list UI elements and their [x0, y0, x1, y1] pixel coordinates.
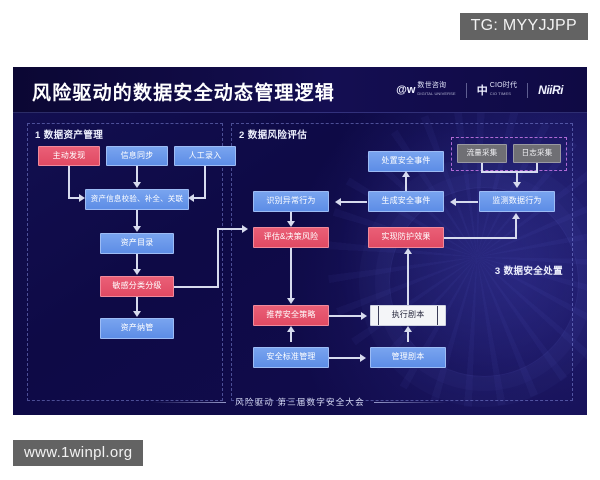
- arrow-head: [361, 312, 367, 320]
- arrow-line: [290, 212, 292, 221]
- node-standard-management[interactable]: 安全标准管理: [253, 347, 329, 368]
- arrow-head: [404, 326, 412, 332]
- logo-h3c-research: NiiRi: [528, 81, 573, 99]
- arrow-head: [188, 194, 194, 202]
- node-generate-incident[interactable]: 生成安全事件: [368, 191, 444, 212]
- arrow-line: [444, 237, 517, 239]
- logo-sub-0: DIGITAL UNIVERSE: [417, 91, 455, 96]
- arrow-line: [290, 248, 292, 298]
- arrow-head: [133, 311, 141, 317]
- page-title: 风险驱动的数据安全动态管理逻辑: [32, 78, 335, 105]
- node-manual-entry[interactable]: 人工录入: [174, 146, 236, 166]
- arrow-line: [407, 332, 409, 342]
- logo-mark-zhong: 中: [477, 82, 488, 98]
- arrow-head: [133, 182, 141, 188]
- node-traffic-collection[interactable]: 流量采集: [457, 144, 507, 163]
- footer-rule-left: [152, 402, 226, 403]
- arrow-line: [329, 357, 362, 359]
- arrow-line: [329, 315, 363, 317]
- arrow-head: [450, 198, 456, 206]
- node-info-sync[interactable]: 信息同步: [106, 146, 168, 166]
- node-asset-governance[interactable]: 资产纳管: [100, 318, 174, 339]
- slide-header-bar: 风险驱动的数据安全动态管理逻辑 @w 数世咨询 DIGITAL UNIVERSE…: [13, 67, 587, 113]
- arrow-head: [79, 194, 85, 202]
- arrow-line: [405, 177, 407, 191]
- arrow-line: [68, 166, 70, 197]
- footer-rule-right: [374, 402, 448, 403]
- telegram-watermark-badge: TG: MYYJJPP: [460, 13, 588, 40]
- sponsor-logo-group: @w 数世咨询 DIGITAL UNIVERSE 中 CIO时代 CIO TIM…: [386, 79, 573, 101]
- logo-sub-1: CIO TIMES: [490, 91, 511, 96]
- node-execute-playbook[interactable]: 执行剧本: [370, 305, 446, 326]
- arrow-line: [204, 166, 206, 197]
- arrow-head: [242, 225, 248, 233]
- node-manage-playbook[interactable]: 管理剧本: [370, 347, 446, 368]
- arrow-head: [335, 198, 341, 206]
- arrow-line: [515, 219, 517, 238]
- arrow-line: [136, 254, 138, 269]
- playbook-flange-left: [378, 306, 379, 325]
- arrow-line: [407, 254, 409, 305]
- node-sensitive-classification[interactable]: 敏感分类分级: [100, 276, 174, 297]
- panel-label-2: 2 数据风险评估: [239, 127, 307, 141]
- arrow-head: [133, 226, 141, 232]
- arrow-head: [287, 326, 295, 332]
- node-assess-risk[interactable]: 评估&决策风险: [253, 227, 329, 248]
- footer-text: 风险驱动 第三届数字安全大会: [226, 396, 374, 408]
- node-identify-anomaly[interactable]: 识别异常行为: [253, 191, 329, 212]
- slide-footer: 风险驱动 第三届数字安全大会: [13, 389, 587, 415]
- arrow-head: [287, 298, 295, 304]
- arrow-line: [341, 201, 367, 203]
- arrow-line: [136, 166, 138, 182]
- node-execute-playbook-label: 执行剧本: [392, 311, 425, 320]
- site-watermark-badge: www.1winpl.org: [13, 440, 143, 466]
- arrow-line: [290, 332, 292, 342]
- arrow-head: [404, 248, 412, 254]
- node-asset-verification[interactable]: 资产信息校验、补全、关联: [85, 189, 189, 210]
- logo-cio-times: 中 CIO时代 CIO TIMES: [467, 81, 527, 99]
- node-handle-incident[interactable]: 处置安全事件: [368, 151, 444, 172]
- node-log-collection[interactable]: 日志采集: [513, 144, 561, 163]
- node-asset-catalog[interactable]: 资产目录: [100, 233, 174, 254]
- arrow-head: [133, 269, 141, 275]
- presentation-slide: 风险驱动的数据安全动态管理逻辑 @w 数世咨询 DIGITAL UNIVERSE…: [13, 67, 587, 415]
- panel-label-1: 1 数据资产管理: [35, 127, 103, 141]
- arrow-line: [136, 297, 138, 311]
- arrow-line: [136, 210, 138, 226]
- logo-shushi-consulting: @w 数世咨询 DIGITAL UNIVERSE: [386, 81, 466, 99]
- arrow-line: [193, 197, 206, 199]
- node-monitor-data-behavior[interactable]: 监测数据行为: [479, 191, 555, 212]
- arrow-line: [516, 171, 518, 182]
- node-active-discovery[interactable]: 主动发现: [38, 146, 100, 166]
- logo-mark-niiri: NiiRi: [538, 83, 563, 97]
- arrow-head: [512, 213, 520, 219]
- node-protection-effect[interactable]: 实现防护效果: [368, 227, 444, 248]
- logo-mark-at-w: @w: [396, 84, 415, 96]
- panel-label-3: 3 数据安全处置: [495, 263, 563, 277]
- logo-text-1: CIO时代: [490, 82, 517, 89]
- arrow-head: [287, 221, 295, 227]
- arrow-line: [174, 286, 219, 288]
- logo-text-0: 数世咨询: [417, 82, 446, 89]
- arrow-line: [217, 228, 219, 287]
- arrow-head: [513, 182, 521, 188]
- arrow-head: [402, 171, 410, 177]
- screenshot-root: TG: MYYJJPP www.1winpl.org 风险驱动的数据安全动态管理…: [0, 0, 600, 480]
- playbook-flange-right: [437, 306, 438, 325]
- arrow-head: [360, 354, 366, 362]
- node-recommend-policy[interactable]: 推荐安全策略: [253, 305, 329, 326]
- arrow-line: [217, 228, 244, 230]
- arrow-line: [481, 171, 538, 173]
- arrow-line: [456, 201, 478, 203]
